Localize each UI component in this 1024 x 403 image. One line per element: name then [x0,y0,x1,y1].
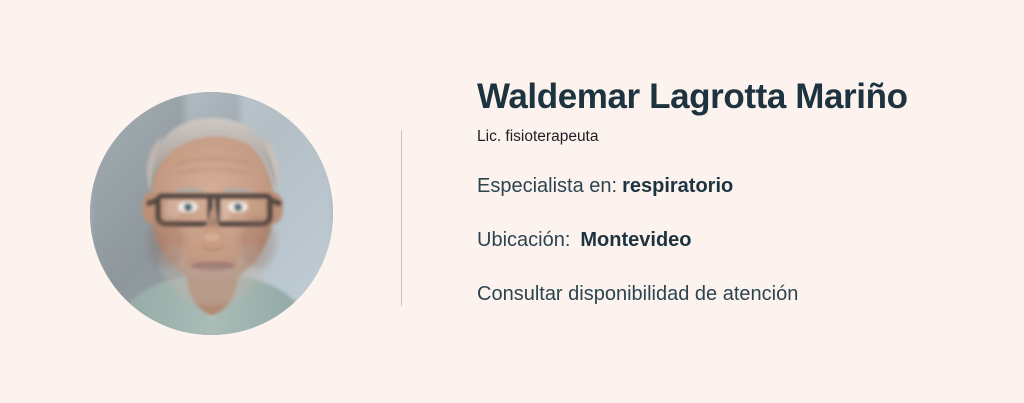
profile-photo [90,92,333,335]
vertical-divider [401,130,402,306]
profile-name: Waldemar Lagrotta Mariño [477,76,1017,118]
profile-credential: Lic. fisioterapeuta [477,127,1017,147]
specialty-value: respiratorio [622,175,733,197]
avatar [90,92,333,335]
profile-info: Waldemar Lagrotta Mariño Lic. fisioterap… [477,76,1017,307]
profile-card: Waldemar Lagrotta Mariño Lic. fisioterap… [0,0,1024,403]
location-value: Montevideo [580,229,691,251]
specialty-label: Especialista en: [477,175,617,197]
availability-text: Consultar disponibilidad de atención [477,281,1017,307]
specialty-row: Especialista en:respiratorio [477,173,1017,199]
location-label: Ubicación: [477,229,570,251]
location-row: Ubicación:Montevideo [477,227,1017,253]
